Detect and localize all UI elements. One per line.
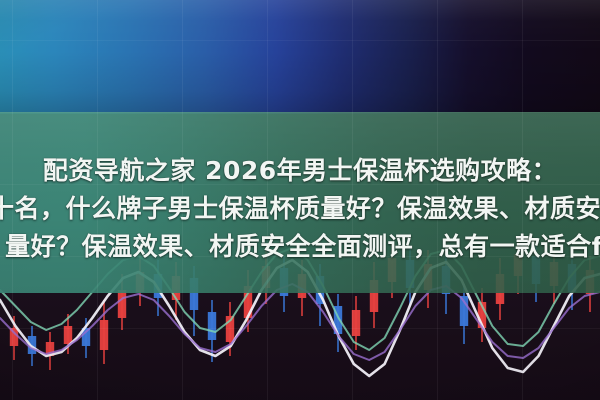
banner-image: 配资导航之家 2026年男士保温杯选购攻略： 十名，什么牌子男士保温杯质量好？保… bbox=[0, 0, 600, 400]
vignette-overlay bbox=[0, 0, 600, 400]
